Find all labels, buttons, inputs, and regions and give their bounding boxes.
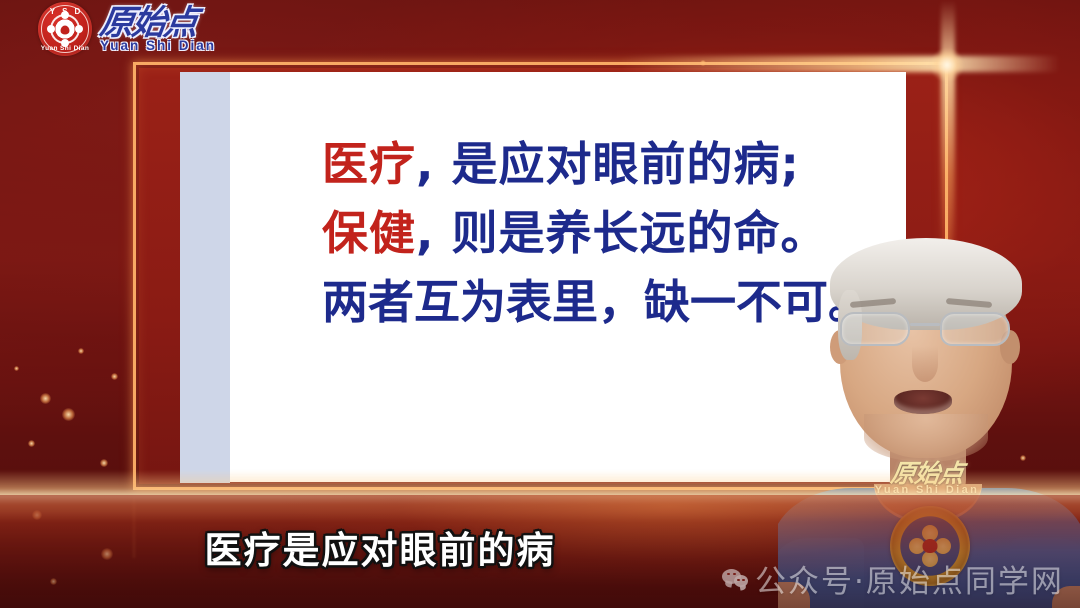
glasses-lens-right — [940, 312, 1010, 346]
presenter-glasses — [836, 312, 1014, 346]
brand-name-stack: 原始点 Yuan Shi Dian — [100, 6, 216, 53]
seal-logo-icon: YSD Yuan Shi Dian — [38, 2, 92, 56]
seal-flower-icon — [52, 16, 78, 42]
lens-flare-vertical — [941, 0, 955, 250]
bokeh-particle — [50, 578, 57, 585]
slide-line-1: 医疗, 是应对眼前的病; — [322, 130, 922, 199]
slide-line-2-rest: , 则是养长远的命。 — [416, 206, 828, 260]
brand-logo: YSD Yuan Shi Dian 原始点 Yuan Shi Dian — [38, 2, 216, 56]
presenter-nose — [912, 346, 938, 382]
bokeh-particle — [28, 440, 35, 447]
presenter-mouth — [894, 390, 952, 414]
subtitle-caption: 医疗是应对眼前的病 — [0, 520, 760, 574]
lens-flare-horizontal — [620, 56, 1060, 72]
slide-line-1-highlight: 医疗 — [322, 137, 416, 191]
bokeh-particle — [40, 393, 51, 404]
watermark-text: 公众号·原始点同学网 — [755, 556, 1064, 601]
bokeh-particle — [78, 348, 84, 354]
lens-flare-corner — [930, 48, 964, 82]
bokeh-particle — [62, 408, 75, 421]
slide-line-2-highlight: 保健 — [322, 206, 416, 260]
presenter-figure: 原始点 Yuan Shi Dian — [778, 238, 1080, 608]
brand-name-cn: 原始点 — [98, 6, 219, 40]
bokeh-particle — [700, 60, 706, 66]
bokeh-particle — [165, 300, 170, 305]
tee-logo-en: Yuan Shi Dian — [852, 484, 1002, 496]
wechat-icon — [722, 568, 748, 590]
channel-watermark: 公众号·原始点同学网 — [722, 556, 1064, 601]
slide-sidebar-strip — [180, 72, 230, 483]
bokeh-particle — [14, 366, 19, 371]
glasses-lens-left — [840, 312, 910, 346]
slide-line-1-rest: , 是应对眼前的病; — [416, 137, 800, 191]
bokeh-particle — [100, 459, 108, 467]
seal-arc-text: Yuan Shi Dian — [38, 45, 92, 52]
video-frame: 医疗, 是应对眼前的病; 保健, 则是养长远的命。 两者互为表里，缺一不可。 Y… — [0, 0, 1080, 608]
bokeh-particle — [32, 510, 42, 520]
glasses-bridge — [910, 323, 940, 326]
bokeh-particle — [111, 373, 118, 380]
